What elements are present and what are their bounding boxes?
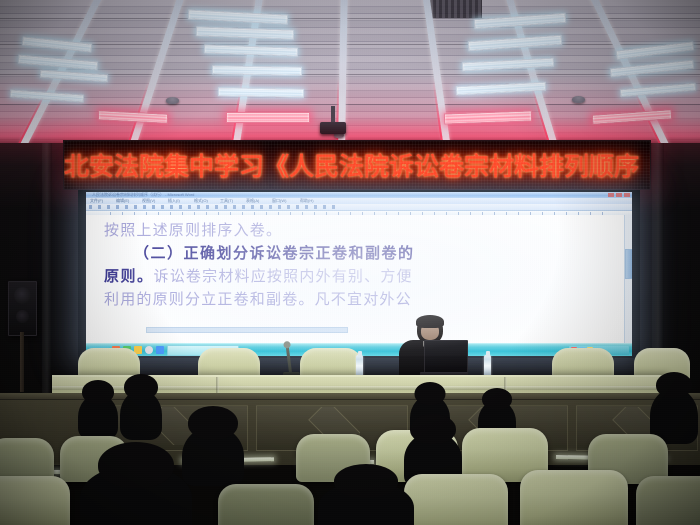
document-page-break — [146, 327, 348, 333]
audience-seat — [520, 470, 628, 525]
ceiling-light-fixture-warm — [444, 110, 532, 124]
ceiling-light-fixture — [40, 70, 108, 83]
audience-person — [78, 394, 118, 440]
person-head — [98, 442, 174, 488]
ceiling-light-fixture-warm — [592, 109, 673, 125]
ceiling-tile-seam — [0, 44, 700, 45]
projection-screen[interactable]: 人民法院诉讼卷宗材料排列顺序（试行） - Microsoft Word 文件(F… — [86, 192, 632, 356]
word-toolbar[interactable] — [86, 204, 632, 211]
document-line: 诉讼卷宗材料应按照内外有别、方便 — [154, 267, 413, 285]
person-head — [334, 464, 398, 498]
ceiling-light-fixture-warm — [226, 112, 310, 123]
word-document-page[interactable]: 按照上述原则排序入卷。 （二）正确划分诉讼卷宗正卷和副卷的 原则。诉讼卷宗材料应… — [86, 215, 632, 344]
projection-screen-frame: 人民法院诉讼卷宗材料排列顺序（试行） - Microsoft Word 文件(F… — [78, 190, 640, 358]
laptop-screen — [424, 340, 468, 375]
quicklaunch-icon[interactable] — [156, 346, 164, 354]
document-line: （二）正确划分诉讼卷宗正卷和副卷的 — [134, 244, 415, 262]
document-line: 原则。 — [104, 267, 154, 285]
ceiling-tile-seam — [0, 18, 700, 19]
ceiling-light-fixture — [462, 58, 554, 72]
scrollbar-thumb[interactable] — [625, 249, 632, 279]
wall-pillar — [42, 143, 52, 395]
audience-seat — [404, 474, 508, 525]
audience-seat — [636, 476, 700, 525]
person-head — [482, 388, 512, 410]
ceiling-light-fixture-warm — [98, 110, 168, 124]
ceiling-light-fixture — [188, 9, 288, 24]
document-line: 按照上述原则排序入卷。 — [104, 221, 282, 239]
person-head — [656, 372, 692, 398]
word-vertical-scrollbar[interactable] — [624, 215, 632, 344]
document-text: 按照上述原则排序入卷。 （二）正确划分诉讼卷宗正卷和副卷的 原则。诉讼卷宗材料应… — [104, 219, 610, 311]
speaker-stand-pole — [20, 332, 24, 392]
person-head — [410, 414, 456, 444]
ceiling-light-fixture — [196, 26, 294, 39]
audience-person — [182, 426, 244, 486]
ceiling-light-fixture — [212, 65, 302, 76]
audience-person — [80, 466, 192, 525]
audience-person — [318, 482, 414, 525]
window-controls[interactable] — [608, 193, 630, 197]
ceiling-light-fixture — [218, 87, 304, 97]
person-head — [82, 380, 114, 404]
led-banner-text: 北安法院集中学习《人民法院诉讼卷宗材料排列顺序（试行）》 — [64, 147, 650, 183]
ceiling-light-fixture — [22, 36, 93, 52]
person-head — [188, 406, 238, 440]
ceiling-tile-seam — [0, 104, 700, 105]
ceiling-air-vent — [430, 0, 482, 18]
audience-seat — [0, 476, 70, 525]
audience-person — [120, 390, 162, 440]
ceiling-light-fixture — [204, 44, 298, 56]
smoke-detector — [572, 96, 585, 103]
presenter-hair — [416, 315, 444, 328]
laptop — [420, 340, 468, 380]
ceiling-light-fixture — [468, 35, 562, 52]
ceiling — [0, 0, 700, 145]
ceiling-light-fixture — [620, 83, 696, 98]
audience-seat — [218, 484, 314, 525]
smoke-detector — [166, 97, 179, 104]
wall-mounted-loudspeaker — [8, 281, 37, 336]
person-head — [124, 374, 158, 400]
document-line: 利用的原则分立正卷和副卷。凡不宜对外公 — [104, 290, 412, 308]
photo-scene: 北安法院集中学习《人民法院诉讼卷宗材料排列顺序（试行）》 人民法院诉讼卷宗材料排… — [0, 0, 700, 525]
quicklaunch-icon[interactable] — [145, 346, 153, 354]
led-banner: 北安法院集中学习《人民法院诉讼卷宗材料排列顺序（试行）》 — [63, 140, 651, 190]
ceiling-projector — [320, 122, 346, 134]
person-head — [415, 382, 446, 405]
